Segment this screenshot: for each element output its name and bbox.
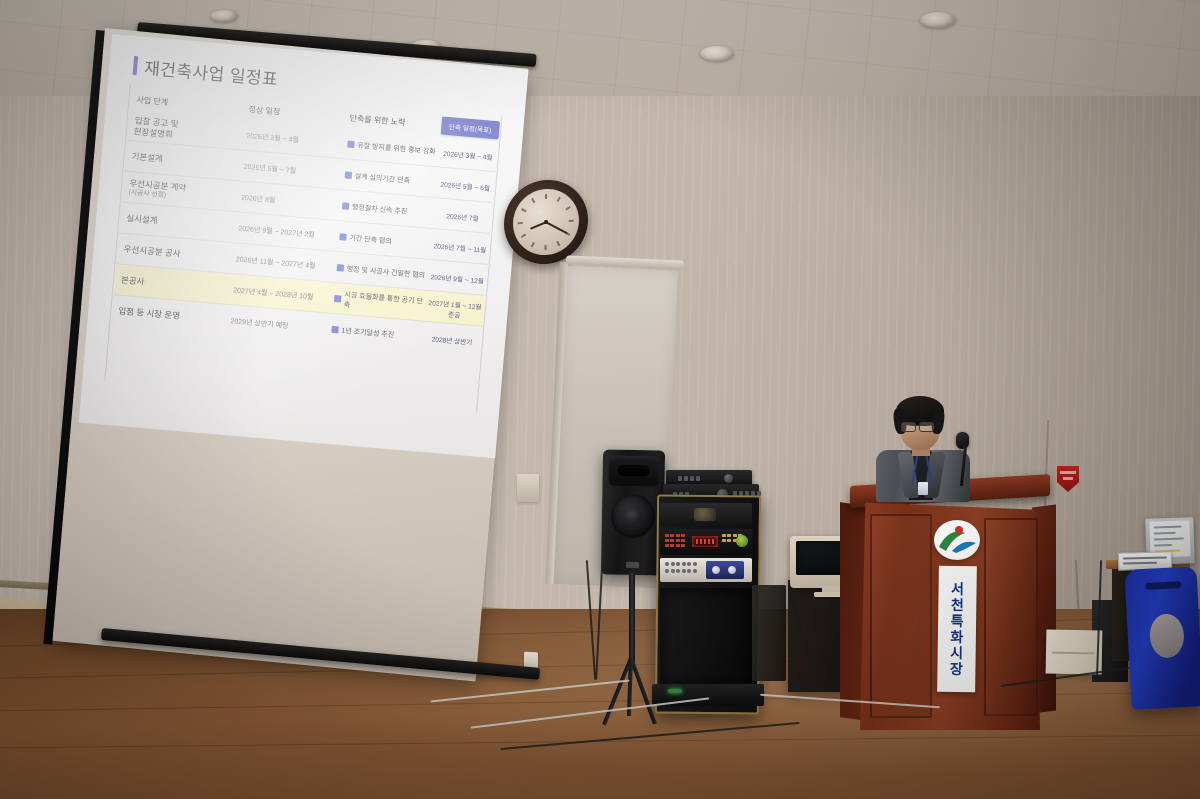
karaoke-unit[interactable] bbox=[660, 529, 752, 555]
cell-effort: 1년 조기달성 추진 bbox=[331, 324, 423, 342]
effort-label: 기간 단축 협의 bbox=[349, 233, 392, 247]
cell-effort: 유찰 방지를 위한 홍보 강화 bbox=[347, 139, 439, 157]
downlight-icon bbox=[920, 12, 956, 28]
cell-effort: 행정 및 시공사 긴밀한 협의 bbox=[336, 263, 428, 281]
effort-label: 유찰 방지를 위한 홍보 강화 bbox=[357, 140, 436, 157]
cell-normal: 2026년 8월 bbox=[241, 192, 343, 211]
blue-plastic-chair[interactable] bbox=[1124, 566, 1200, 710]
cell-target: 2026년 9월 ~ 12월 bbox=[428, 270, 487, 285]
chair-backrest-opening bbox=[1149, 613, 1185, 659]
cell-normal: 2029년 상반기 예정 bbox=[230, 316, 332, 335]
presentation-room-photo: 재건축사업 일정표 사업 단계 정상 일정 단축을 위한 노력 단축 일정(목표… bbox=[0, 0, 1200, 799]
flag-icon bbox=[331, 326, 339, 334]
cell-normal: 2026년 11월 ~ 2027년 4월 bbox=[235, 254, 337, 273]
cell-effort: 설계 심의기간 단축 bbox=[344, 170, 436, 188]
plaque-char: 장 bbox=[950, 662, 963, 676]
projected-slide: 재건축사업 일정표 사업 단계 정상 일정 단축을 위한 노력 단축 일정(목표… bbox=[79, 34, 529, 458]
presenter bbox=[874, 396, 972, 500]
cell-target: 2027년 1월 ~ 12월 준공 bbox=[425, 296, 485, 321]
cell-normal: 2026년 9월 ~ 2027년 2월 bbox=[238, 223, 340, 242]
speaker-horn bbox=[608, 456, 659, 487]
audio-mixer[interactable] bbox=[660, 558, 752, 582]
effort-label: 시공 효율화를 통한 공기 단축 bbox=[343, 289, 426, 316]
pa-speaker bbox=[601, 449, 665, 575]
handshake-icon bbox=[339, 233, 347, 241]
effort-label: 행정절차 신속 추진 bbox=[352, 202, 408, 217]
plaque-char: 화 bbox=[950, 630, 963, 644]
karaoke-display bbox=[692, 536, 718, 547]
slide-title: 재건축사업 일정표 bbox=[143, 54, 279, 90]
podium: 서 천 특 화 시 장 bbox=[856, 480, 1046, 730]
cell-target: 2026년 5월 ~ 6월 bbox=[436, 178, 495, 193]
cell-target: 2026년 3월 ~ 4월 bbox=[439, 147, 498, 162]
speaker-woofer bbox=[611, 494, 656, 539]
podium-moulding bbox=[984, 518, 1038, 716]
eyeglasses-lens-left bbox=[901, 422, 916, 432]
effort-label: 1년 조기달성 추진 bbox=[341, 325, 395, 339]
rack-blank-panel bbox=[660, 503, 752, 526]
slide-title-block: 재건축사업 일정표 bbox=[132, 53, 279, 90]
cell-stage: 본공사 bbox=[115, 274, 234, 294]
eyeglasses-bridge bbox=[914, 425, 919, 426]
plaque-char: 시 bbox=[950, 646, 963, 660]
effort-label: 행정 및 시공사 긴밀한 협의 bbox=[346, 263, 425, 280]
cardboard-boxes bbox=[1046, 630, 1103, 675]
podium-name-plaque: 서 천 특 화 시 장 bbox=[937, 566, 977, 693]
cell-normal: 2027년 4월 ~ 2028년 10월 bbox=[233, 285, 335, 304]
logo-graphic bbox=[934, 520, 980, 560]
rack-lower-door[interactable] bbox=[660, 588, 752, 684]
side-equipment-cabinet bbox=[752, 585, 786, 681]
speaker-brand-logo bbox=[626, 562, 639, 568]
column-header-effort: 단축을 위한 노력 bbox=[349, 112, 442, 131]
cell-effort: 시공 효율화를 통한 공기 단축 bbox=[333, 288, 426, 316]
title-accent-bar bbox=[133, 56, 139, 75]
gear-icon bbox=[342, 202, 350, 210]
cell-target: 2026년 7월 bbox=[433, 209, 492, 224]
cell-stage: 입점 등 시장 운영 bbox=[112, 305, 231, 325]
clock-minute-hand bbox=[546, 221, 569, 234]
column-header-normal: 정상 일정 bbox=[248, 103, 350, 123]
cell-effort: 기간 단축 협의 bbox=[339, 232, 431, 250]
id-badge bbox=[918, 482, 928, 495]
speed-icon bbox=[334, 295, 342, 303]
column-header-target-wrap: 단축 일정(목표) bbox=[440, 116, 499, 139]
plaque-char: 특 bbox=[951, 614, 964, 628]
podium-moulding bbox=[870, 514, 932, 718]
downlight-icon bbox=[700, 46, 734, 61]
effort-label: 설계 심의기간 단축 bbox=[354, 171, 410, 186]
projection-screen: 재건축사업 일정표 사업 단계 정상 일정 단축을 위한 노력 단축 일정(목표… bbox=[30, 8, 550, 698]
eyeglasses-lens-right bbox=[919, 422, 934, 432]
cell-normal: 2026년 5월 ~ 7월 bbox=[243, 161, 345, 180]
plaque-char: 천 bbox=[951, 598, 964, 612]
cell-stage: 기본설계 bbox=[125, 151, 244, 171]
karaoke-dial[interactable] bbox=[736, 535, 748, 547]
plaque-char: 서 bbox=[951, 582, 964, 596]
megaphone-icon bbox=[347, 141, 355, 149]
cell-target: 2028년 상반기 bbox=[423, 332, 482, 347]
chair-backrest-slot bbox=[1145, 581, 1181, 590]
column-header-target: 단축 일정(목표) bbox=[440, 116, 499, 139]
cell-effort: 행정절차 신속 추진 bbox=[342, 201, 434, 219]
cell-normal: 2026년 3월 ~ 4월 bbox=[246, 130, 348, 149]
clock-face bbox=[513, 187, 579, 256]
document-icon bbox=[344, 171, 352, 179]
chat-icon bbox=[336, 264, 344, 272]
mixer-display-panel bbox=[706, 561, 744, 579]
speaker-stand-pole bbox=[629, 572, 635, 664]
desk-mic-head bbox=[790, 596, 799, 605]
stage-label-line2: 현장설명회 bbox=[133, 126, 173, 139]
cell-stage: 우선시공분 공사 bbox=[117, 244, 236, 264]
schedule-table: 사업 단계 정상 일정 단축을 위한 노력 단축 일정(목표) 입찰 공고 및 … bbox=[111, 88, 500, 358]
seocheon-market-logo bbox=[934, 520, 980, 560]
cell-target: 2026년 7월 ~ 11월 bbox=[431, 240, 490, 255]
cell-stage: 실시설계 bbox=[120, 213, 239, 233]
